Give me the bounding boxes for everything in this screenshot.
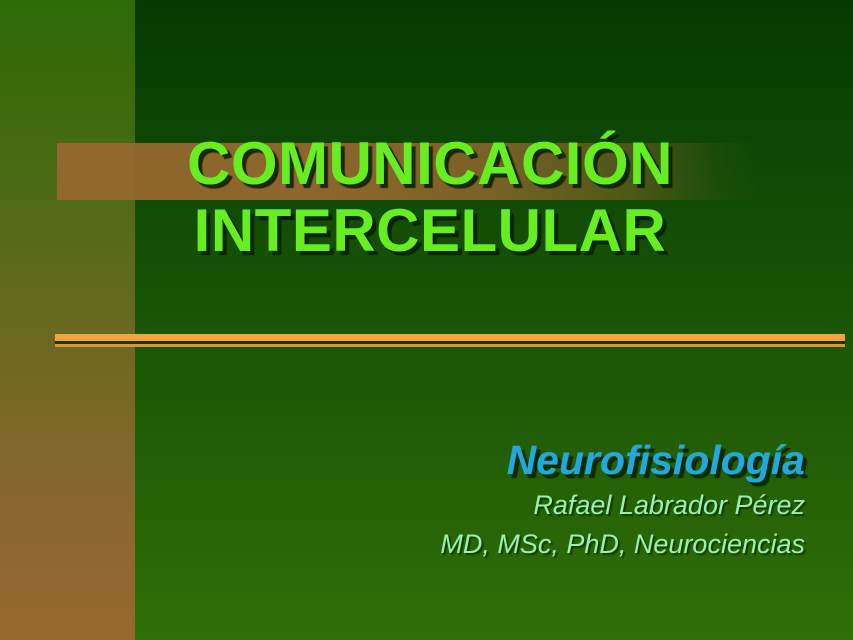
subtitle-course-name: Neurofisiología <box>205 438 805 484</box>
subtitle-author-credentials: MD, MSc, PhD, Neurociencias <box>205 527 805 562</box>
slide-title: COMUNICACIÓN INTERCELULAR <box>70 130 790 264</box>
orange-divider-rule <box>55 334 845 347</box>
subtitle-author-name: Rafael Labrador Pérez <box>205 488 805 523</box>
left-accent-column <box>0 0 135 640</box>
presentation-slide: COMUNICACIÓN INTERCELULAR Neurofisiologí… <box>0 0 853 640</box>
divider-thin-bar <box>55 344 845 347</box>
divider-thick-bar <box>55 334 845 341</box>
subtitle-block: Neurofisiología Rafael Labrador Pérez MD… <box>205 438 805 562</box>
